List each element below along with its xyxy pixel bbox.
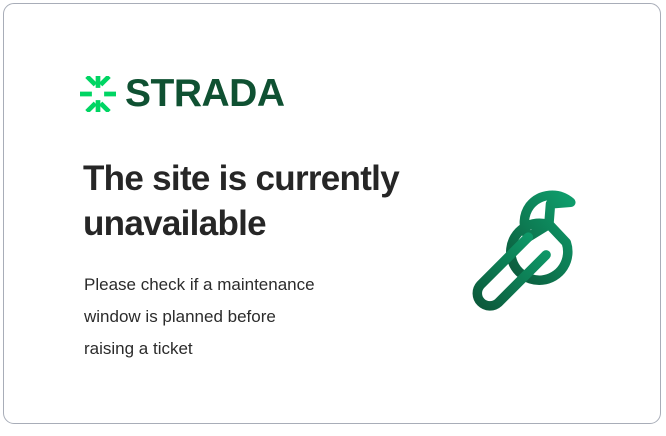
description-line: raising a ticket: [84, 333, 394, 365]
error-page: STRADA The site is currently unavailable…: [0, 0, 666, 436]
wrench-icon: [462, 161, 610, 311]
status-card: STRADA The site is currently unavailable…: [3, 3, 661, 424]
page-title: The site is currently unavailable: [83, 156, 433, 246]
page-description: Please check if a maintenance window is …: [84, 269, 394, 365]
description-line: Please check if a maintenance: [84, 269, 394, 301]
description-line: window is planned before: [84, 301, 394, 333]
brand-wordmark: STRADA: [125, 74, 285, 113]
brand-lockup: STRADA: [80, 74, 285, 113]
asterisk-starburst-icon: [80, 76, 116, 112]
